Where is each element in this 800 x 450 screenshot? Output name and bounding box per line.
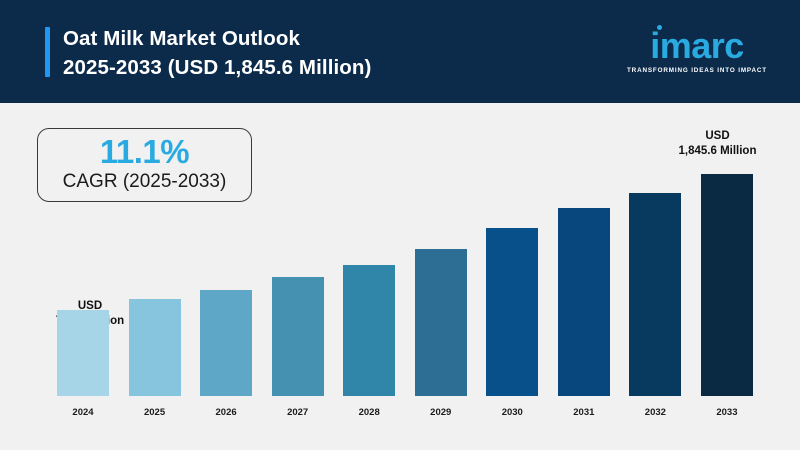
bar-year-label: 2026 [198,407,254,418]
bar-year-label: 2032 [627,407,683,418]
bar-column: 2028 [341,166,397,396]
bar-column: 2027 [270,166,326,396]
bar-column: 2025 [127,166,183,396]
chart-page: Oat Milk Market Outlook 2025-2033 (USD 1… [0,0,800,450]
bar-year-label: 2025 [127,407,183,418]
page-title: Oat Milk Market Outlook 2025-2033 (USD 1… [63,24,371,82]
page-header: Oat Milk Market Outlook 2025-2033 (USD 1… [0,0,800,103]
bar-chart-bars: 2024202520262027202820292030203120322033 [55,166,755,396]
logo-wordmark: imarc [650,28,744,64]
bar-year-label: 2027 [270,407,326,418]
bar-year-label: 2031 [556,407,612,418]
bar-column: 2032 [627,166,683,396]
bar-year-label: 2033 [699,407,755,418]
bar-column: 2030 [484,166,540,396]
bar-column: 2029 [413,166,469,396]
title-line-1: Oat Milk Market Outlook [63,24,371,53]
bar-2027 [272,277,324,396]
logo-tagline: TRANSFORMING IDEAS INTO IMPACT [622,67,772,74]
imarc-logo: imarc TRANSFORMING IDEAS INTO IMPACT [622,28,772,74]
header-accent-bar [45,27,50,77]
bar-column: 2031 [556,166,612,396]
bar-2033 [701,174,753,396]
title-line-2: 2025-2033 (USD 1,845.6 Million) [63,53,371,82]
bar-column: 2033 [699,166,755,396]
bar-2030 [486,228,538,396]
logo-wordmark-text: imarc [650,25,744,66]
bar-year-label: 2029 [413,407,469,418]
bar-2028 [343,265,395,396]
bar-chart: 2024202520262027202820292030203120322033 [55,140,755,425]
bar-2026 [200,290,252,396]
bar-2024 [57,310,109,396]
bar-year-label: 2024 [55,407,111,418]
bar-column: 2026 [198,166,254,396]
bar-column: 2024 [55,166,111,396]
bar-2031 [558,208,610,396]
bar-year-label: 2030 [484,407,540,418]
bar-year-label: 2028 [341,407,397,418]
bar-2032 [629,193,681,396]
bar-2029 [415,249,467,396]
bar-2025 [129,299,181,396]
